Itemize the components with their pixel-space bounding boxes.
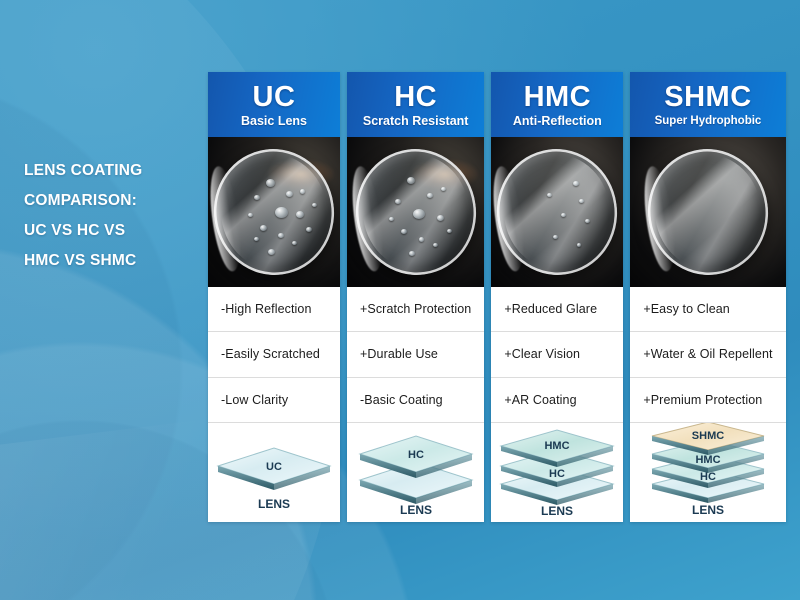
layer-label: LENS: [400, 503, 432, 517]
layer-diagram-shmc: SHMC HMC HC LENS: [630, 422, 785, 522]
water-droplet-icon: [254, 195, 260, 200]
layer-stack-svg: HMC HC LENS: [491, 422, 623, 518]
column-code: HC: [394, 82, 437, 112]
water-droplet-icon: [254, 237, 259, 241]
layer-label: SHMC: [692, 430, 724, 442]
layer-stack-svg: HC LENS: [350, 422, 482, 518]
feature-cell: +Durable Use: [347, 331, 484, 376]
water-droplet-icon: [395, 199, 401, 204]
water-droplets-group: [347, 137, 484, 287]
layer-label: HC: [700, 471, 716, 483]
water-droplet-icon: [447, 229, 452, 233]
water-droplet-icon: [419, 237, 424, 242]
column-header-hmc: HMC Anti-Reflection: [491, 72, 623, 137]
feature-cell: +Clear Vision: [491, 331, 623, 376]
water-droplet-icon: [409, 251, 415, 256]
water-droplets-group: [208, 137, 340, 287]
infographic-canvas: LENS COATING COMPARISON: UC VS HC VS HMC…: [0, 0, 800, 600]
page-title-line: HMC VS SHMC: [24, 246, 210, 276]
feature-cell: -Easily Scratched: [208, 331, 340, 376]
water-droplet-icon: [441, 187, 446, 191]
water-droplet-icon: [260, 225, 267, 231]
column-subtitle: Basic Lens: [241, 113, 307, 129]
water-droplet-icon: [573, 181, 579, 186]
layer-label: LENS: [692, 503, 724, 517]
feature-cell: +Water & Oil Repellent: [630, 331, 785, 376]
water-droplet-icon: [401, 229, 407, 234]
page-title-line: LENS COATING: [24, 156, 210, 186]
layer-diagram-hmc: HMC HC LENS: [491, 422, 623, 522]
column-header-uc: UC Basic Lens: [208, 72, 340, 137]
water-droplet-icon: [427, 193, 433, 198]
water-droplet-icon: [577, 243, 581, 247]
water-droplet-icon: [286, 191, 293, 197]
comparison-column-shmc: SHMC Super Hydrophobic +Easy to Clean +W…: [630, 72, 785, 522]
column-subtitle: Anti-Reflection: [513, 113, 602, 129]
water-droplet-icon: [407, 177, 415, 184]
water-droplet-icon: [300, 189, 305, 194]
column-subtitle: Super Hydrophobic: [655, 113, 762, 129]
feature-cell: -High Reflection: [208, 287, 340, 331]
water-droplet-icon: [292, 241, 297, 245]
page-title-line: COMPARISON:: [24, 186, 210, 216]
layer-label: UC: [266, 461, 282, 473]
layer-stack-svg: UC LENS: [208, 422, 340, 518]
page-title-line: UC VS HC VS: [24, 216, 210, 246]
water-droplet-icon: [585, 219, 590, 223]
layer-label: HC: [408, 449, 424, 461]
feature-cell: -Low Clarity: [208, 377, 340, 422]
water-droplet-icon: [268, 249, 275, 255]
lens-photo-uc: [208, 137, 340, 287]
comparison-table: UC Basic Lens: [208, 72, 780, 522]
comparison-column-hc: HC Scratch Resistant: [347, 72, 484, 522]
column-code: HMC: [524, 82, 592, 112]
water-droplets-group: [491, 137, 623, 287]
water-droplet-icon: [433, 243, 438, 247]
column-header-hc: HC Scratch Resistant: [347, 72, 484, 137]
lens-photo-shmc: [630, 137, 785, 287]
layer-diagram-hc: HC LENS: [347, 422, 484, 522]
feature-cell: -Basic Coating: [347, 377, 484, 422]
comparison-column-uc: UC Basic Lens: [208, 72, 340, 522]
water-droplet-icon: [389, 217, 394, 221]
water-droplet-icon: [266, 179, 275, 187]
water-droplet-icon: [278, 233, 284, 238]
feature-cell: +Premium Protection: [630, 377, 785, 422]
water-droplet-icon: [561, 213, 566, 217]
page-title: LENS COATING COMPARISON: UC VS HC VS HMC…: [24, 156, 210, 276]
layer-diagram-uc: UC LENS: [208, 422, 340, 522]
water-droplet-icon: [413, 209, 425, 219]
lens-disc-icon: [640, 141, 776, 282]
feature-cell: +Reduced Glare: [491, 287, 623, 331]
water-droplet-icon: [296, 211, 304, 218]
layer-stack-svg: SHMC HMC HC LENS: [642, 422, 774, 518]
feature-cell: +AR Coating: [491, 377, 623, 422]
water-droplet-icon: [553, 235, 558, 239]
feature-cell: +Scratch Protection: [347, 287, 484, 331]
layer-label: HMC: [545, 440, 570, 452]
layer-label: LENS: [541, 504, 573, 518]
column-code: SHMC: [664, 82, 751, 112]
layer-label: LENS: [258, 497, 290, 511]
water-droplet-icon: [248, 213, 253, 217]
water-droplet-icon: [579, 199, 584, 203]
column-header-shmc: SHMC Super Hydrophobic: [630, 72, 785, 137]
water-droplet-icon: [275, 207, 288, 218]
lens-photo-hmc: [491, 137, 623, 287]
water-droplet-icon: [306, 227, 312, 232]
comparison-column-hmc: HMC Anti-Reflection +Reduced Glare +Clea…: [491, 72, 623, 522]
feature-cell: +Easy to Clean: [630, 287, 785, 331]
water-droplet-icon: [312, 203, 317, 207]
lens-photo-hc: [347, 137, 484, 287]
water-droplet-icon: [437, 215, 444, 221]
column-code: UC: [253, 82, 296, 112]
water-droplet-icon: [547, 193, 552, 197]
column-subtitle: Scratch Resistant: [363, 113, 469, 129]
layer-label: HMC: [695, 454, 720, 466]
layer-label: HC: [549, 468, 565, 480]
